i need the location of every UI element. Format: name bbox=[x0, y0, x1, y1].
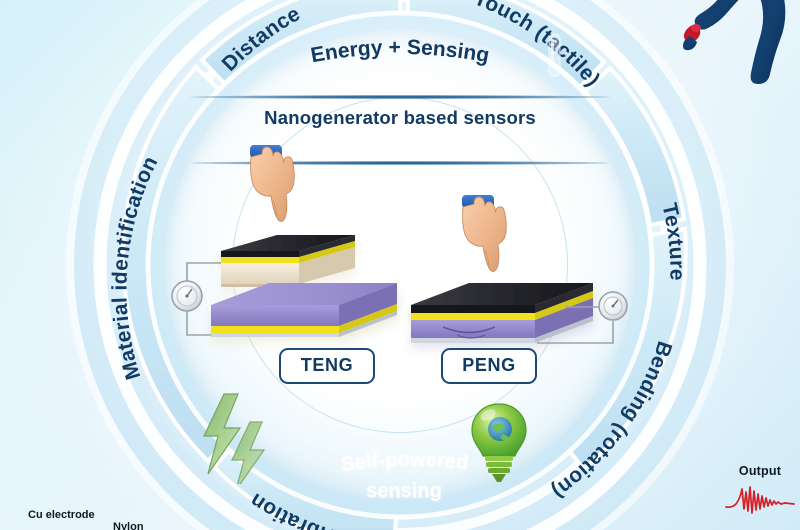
teng-pointing-hand-icon bbox=[250, 145, 294, 222]
annotation-nylon: Nylon bbox=[113, 521, 144, 530]
device-svg bbox=[165, 185, 635, 395]
device-illustration-group bbox=[165, 185, 635, 395]
device-label-peng[interactable]: PENG bbox=[441, 348, 537, 384]
figure-canvas: Distance Touch (tactile) Texture Bending… bbox=[0, 0, 800, 530]
eco-lightbulb-icon bbox=[468, 402, 530, 489]
peng-slab bbox=[411, 283, 593, 343]
output-annotation: Output bbox=[723, 464, 797, 519]
lightning-bolt-icon bbox=[196, 392, 280, 489]
teng-lower-slab bbox=[211, 283, 397, 337]
annotation-cu-electrode: Cu electrode bbox=[28, 509, 95, 521]
output-waveform-icon bbox=[725, 479, 795, 519]
teng-meter-icon bbox=[172, 281, 202, 311]
running-person-icon bbox=[668, 0, 794, 103]
peng-meter-icon bbox=[599, 292, 627, 320]
teng-upper-slab bbox=[221, 235, 355, 287]
device-label-teng[interactable]: TENG bbox=[279, 348, 375, 384]
decorative-tube-icon bbox=[540, 30, 568, 91]
output-label: Output bbox=[723, 464, 797, 478]
peng-pointing-hand-icon bbox=[462, 195, 506, 272]
